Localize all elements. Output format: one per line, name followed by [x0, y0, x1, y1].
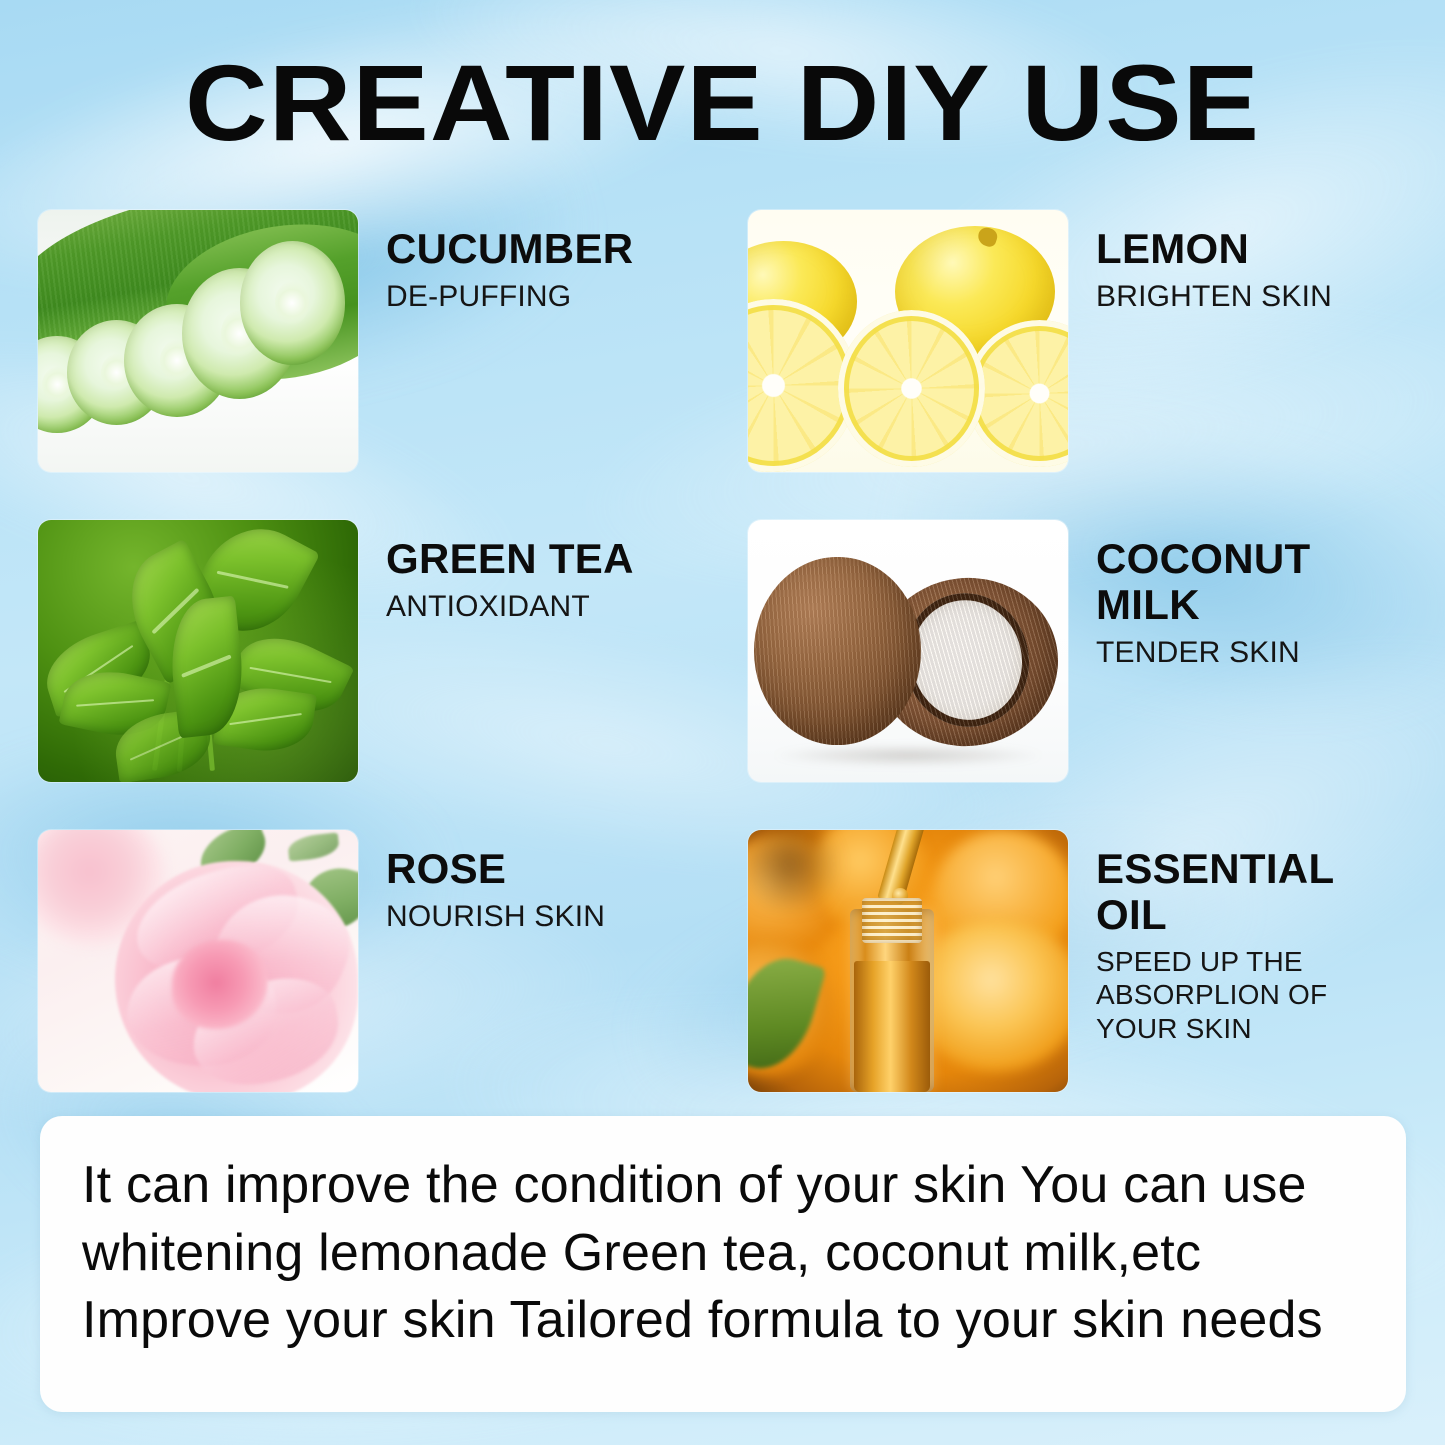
ingredient-desc: ANTIOXIDANT	[386, 589, 634, 626]
ingredient-name: GREEN TEA	[386, 536, 634, 582]
ingredient-text: GREEN TEA ANTIOXIDANT	[358, 520, 634, 625]
ingredient-name: ESSENTIAL OIL	[1096, 846, 1334, 938]
ingredient-card-rose: ROSE NOURISH SKIN	[38, 830, 748, 1140]
ingredient-desc: BRIGHTEN SKIN	[1096, 279, 1332, 316]
ingredient-card-lemon: LEMON BRIGHTEN SKIN	[748, 210, 1407, 520]
ingredient-desc: NOURISH SKIN	[386, 899, 605, 936]
ingredient-card-coconut-milk: COCONUT MILK TENDER SKIN	[748, 520, 1407, 830]
grid-row: CUCUMBER DE-PUFFING	[38, 210, 1407, 520]
ingredient-text: COCONUT MILK TENDER SKIN	[1068, 520, 1310, 671]
grid-row: ROSE NOURISH SKIN	[38, 830, 1407, 1140]
ingredient-desc: TENDER SKIN	[1096, 635, 1310, 672]
ingredient-name: LEMON	[1096, 226, 1332, 272]
ingredient-grid: CUCUMBER DE-PUFFING	[38, 210, 1407, 1140]
ingredient-text: ROSE NOURISH SKIN	[358, 830, 605, 935]
ingredient-name: ROSE	[386, 846, 605, 892]
ingredient-desc: SPEED UP THE ABSORPLION OF YOUR SKIN	[1096, 945, 1334, 1046]
essential-oil-photo	[748, 830, 1068, 1092]
description-paragraph: It can improve the condition of your ski…	[82, 1152, 1372, 1355]
ingredient-name: COCONUT MILK	[1096, 536, 1310, 628]
ingredient-text: LEMON BRIGHTEN SKIN	[1068, 210, 1332, 315]
grid-row: GREEN TEA ANTIOXIDANT COCONUT MILK TENDE…	[38, 520, 1407, 830]
page-title: CREATIVE DIY USE	[0, 48, 1445, 158]
rose-photo	[38, 830, 358, 1092]
ingredient-desc: DE-PUFFING	[386, 279, 633, 316]
ingredient-name: CUCUMBER	[386, 226, 633, 272]
coconut-photo	[748, 520, 1068, 782]
ingredient-text: ESSENTIAL OIL SPEED UP THE ABSORPLION OF…	[1068, 830, 1334, 1045]
ingredient-text: CUCUMBER DE-PUFFING	[358, 210, 633, 315]
description-card: It can improve the condition of your ski…	[40, 1116, 1406, 1412]
green-tea-photo	[38, 520, 358, 782]
lemon-photo	[748, 210, 1068, 472]
ingredient-card-cucumber: CUCUMBER DE-PUFFING	[38, 210, 748, 520]
cucumber-photo	[38, 210, 358, 472]
ingredient-card-essential-oil: ESSENTIAL OIL SPEED UP THE ABSORPLION OF…	[748, 830, 1407, 1140]
ingredient-card-green-tea: GREEN TEA ANTIOXIDANT	[38, 520, 748, 830]
